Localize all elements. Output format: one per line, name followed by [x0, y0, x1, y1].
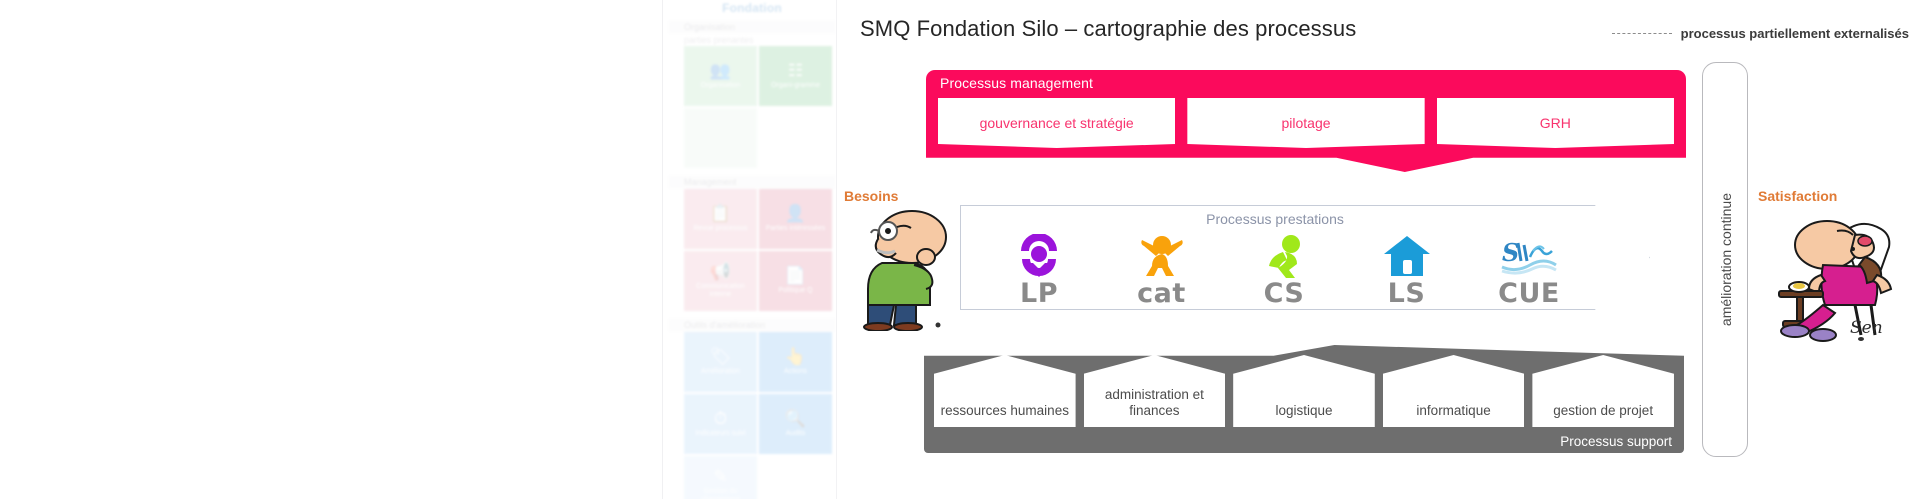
support-box-administration-finances[interactable]: administration et finances [1084, 355, 1226, 427]
prestation-item-cue[interactable]: S CUE [1474, 233, 1584, 309]
app-tile-label: Revue processus [693, 225, 747, 233]
support-box-group: ressources humaines administration et fi… [934, 355, 1674, 427]
ls-house-logo-icon [1352, 233, 1462, 279]
artist-signature: Sen [1850, 318, 1883, 338]
thinking-man-cartoon-icon [852, 205, 956, 331]
processus-support-band: ressources humaines administration et fi… [924, 345, 1684, 453]
app-tile-revue-processus[interactable]: 📋 Revue processus [684, 189, 757, 249]
support-box-ressources-humaines[interactable]: ressources humaines [934, 355, 1076, 427]
app-tile-gestion-changement[interactable]: ✎ Gestion du changement [684, 456, 757, 499]
magnifier-icon: 🔍 [785, 410, 806, 428]
click-hand-icon: 👆 [785, 348, 806, 366]
app-tile-label: Parties intéressées [766, 225, 826, 233]
panel-divider [662, 0, 663, 499]
management-box-gouvernance[interactable]: gouvernance et stratégie [938, 98, 1175, 148]
app-tile-organisation[interactable]: 👥 Organisation [684, 46, 757, 106]
app-tile-amelioration[interactable]: 🏷 Amélioration [684, 332, 757, 392]
megaphone-icon: 📢 [710, 263, 731, 281]
app-tile-audits[interactable]: 🔍 Audits [759, 394, 832, 454]
app-section-subheading-parties-prenantes: parties prenantes [668, 34, 836, 46]
app-tile-communication-interne[interactable]: 📢 Communication interne [684, 251, 757, 311]
process-map-diagram: SMQ Fondation Silo – cartographie des pr… [840, 0, 1923, 499]
management-box-pilotage[interactable]: pilotage [1187, 98, 1424, 148]
prestation-label: LS [1352, 279, 1462, 309]
besoins-label: Besoins [844, 188, 898, 204]
app-tile-placeholder[interactable] [684, 108, 757, 168]
cue-logo-icon: S [1474, 233, 1584, 279]
processus-prestations-arrow: Processus prestations LP [960, 205, 1650, 310]
stakeholder-icon: 👤 [785, 205, 806, 223]
app-tile-label: Amélioration [701, 368, 740, 376]
app-section-heading-organisation: Organisation [668, 20, 836, 34]
dashed-line-icon [1612, 33, 1672, 34]
app-tile-group-management: 📋 Revue processus 👤 Parties intéressées … [668, 189, 836, 313]
prestations-band-label: Processus prestations [960, 211, 1590, 227]
management-band-label: Processus management [940, 75, 1093, 91]
prestation-item-ls[interactable]: LS [1352, 233, 1462, 309]
app-sidebar[interactable]: Fondation Organisation parties prenantes… [668, 0, 836, 499]
amelioration-continue-label: amélioration continue [1718, 193, 1734, 326]
background-app-panel: Fondation Organisation parties prenantes… [0, 0, 840, 499]
app-tile-group-organisation: 👥 Organisation ☷ Organi-gramme [668, 46, 836, 170]
support-box-gestion-de-projet[interactable]: gestion de projet [1532, 355, 1674, 427]
app-section-heading-outils-amelioration: Outils d'amélioration [668, 318, 836, 332]
cs-logo-icon [1229, 233, 1339, 279]
tag-icon: 🏷 [710, 348, 732, 366]
gauge-icon: ⏱ [714, 410, 727, 428]
app-tile-politique-q[interactable]: 📄 Politique Q [759, 251, 832, 311]
prestation-item-lp[interactable]: LP [984, 233, 1094, 309]
app-tile-label: Actions [784, 368, 807, 376]
lp-logo-icon [984, 233, 1094, 279]
prestation-label: cat [1107, 279, 1217, 309]
pencil-icon: ✎ [713, 468, 727, 486]
prestation-label: CUE [1474, 279, 1584, 309]
support-box-logistique[interactable]: logistique [1233, 355, 1375, 427]
processus-management-band: Processus management gouvernance et stra… [926, 70, 1686, 172]
management-box-grh[interactable]: GRH [1437, 98, 1674, 148]
app-tile-label: Organi-gramme [771, 82, 820, 90]
app-tile-parties-interessees[interactable]: 👤 Parties intéressées [759, 189, 832, 249]
document-icon: 📄 [785, 267, 806, 285]
panel-divider-secondary [836, 0, 837, 499]
prestation-item-cs[interactable]: CS [1229, 233, 1339, 309]
legend-label: processus partiellement externalisés [1681, 26, 1909, 41]
prestation-label: CS [1229, 279, 1339, 309]
page-title: SMQ Fondation Silo – cartographie des pr… [860, 16, 1356, 42]
support-box-informatique[interactable]: informatique [1383, 355, 1525, 427]
app-title: Fondation [668, 0, 836, 15]
cat-logo-icon [1107, 233, 1217, 279]
app-tile-group-amelioration: 🏷 Amélioration 👆 Actions ⏱ Indicateurs s… [668, 332, 836, 499]
management-box-group: gouvernance et stratégie pilotage GRH [938, 98, 1674, 148]
app-tile-label: Politique Q [778, 287, 812, 295]
legend: processus partiellement externalisés [1612, 26, 1909, 41]
clipboard-icon: 📋 [710, 205, 731, 223]
app-tile-label: Indicateurs suivi [695, 430, 745, 438]
people-icon: 👥 [710, 62, 731, 80]
app-tile-label: Communication interne [686, 283, 755, 299]
prestation-item-cat[interactable]: cat [1107, 233, 1217, 309]
prestations-item-group: LP cat [984, 233, 1584, 308]
svg-text:S: S [1502, 238, 1519, 267]
relaxing-woman-cartoon-icon [1765, 205, 1915, 345]
org-chart-icon: ☷ [788, 62, 803, 80]
prestation-label: LP [984, 279, 1094, 309]
amelioration-continue-label-wrap: amélioration continue [1706, 62, 1746, 457]
app-section-heading-management: Management [668, 175, 836, 189]
app-tile-organigramme[interactable]: ☷ Organi-gramme [759, 46, 832, 106]
app-tile-label: Organisation [701, 82, 741, 90]
app-tile-label: Gestion du changement [686, 488, 755, 499]
support-band-label: Processus support [1560, 434, 1672, 449]
app-tile-label: Audits [786, 430, 805, 438]
satisfaction-label: Satisfaction [1758, 188, 1837, 204]
app-tile-actions[interactable]: 👆 Actions [759, 332, 832, 392]
app-tile-indicateurs[interactable]: ⏱ Indicateurs suivi [684, 394, 757, 454]
